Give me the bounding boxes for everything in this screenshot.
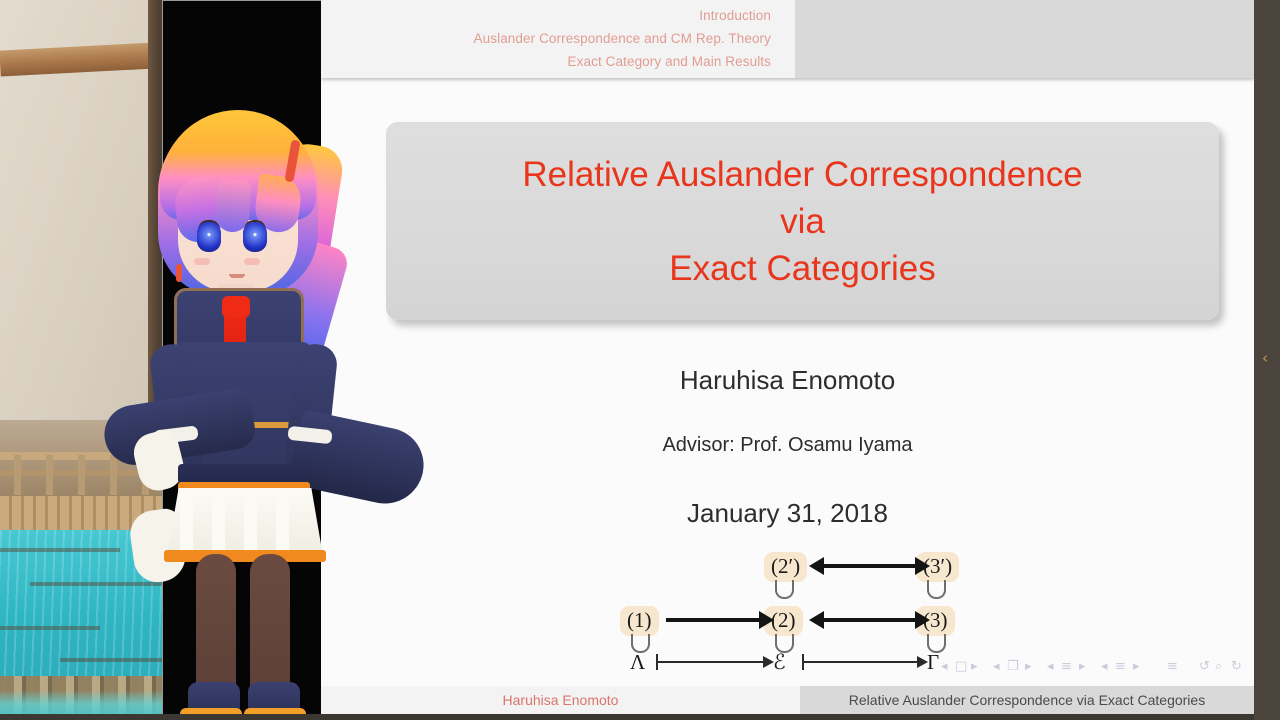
avatar-earring [176, 264, 182, 282]
nav-item-auslander-correspondence[interactable]: Auslander Correspondence and CM Rep. The… [321, 27, 771, 50]
diagram-edge-2p-3p [816, 564, 924, 568]
avatar-skirt-strap [212, 492, 225, 554]
screen: Introduction Auslander Correspondence an… [0, 0, 1280, 720]
background-rail-post [14, 455, 21, 495]
navsym-doc-icon[interactable]: ≡ [1167, 660, 1178, 674]
avatar-necktie-knot [222, 296, 250, 318]
nav-item-introduction[interactable]: Introduction [321, 4, 771, 27]
commutative-diagram: (2′) (3′) (1) (2) (3) Λ ℰ Γ [616, 548, 1016, 673]
footer-title: Relative Auslander Correspondence via Ex… [800, 686, 1254, 714]
background-rail-post [78, 455, 85, 495]
vtuber-avatar [118, 92, 418, 720]
navsym-slide-icon[interactable]: □ [955, 660, 967, 674]
nav-item-exact-category[interactable]: Exact Category and Main Results [321, 50, 771, 73]
background-rail-post [110, 455, 117, 495]
beamer-section-nav[interactable]: Introduction Auslander Correspondence an… [321, 4, 783, 73]
navsym-slide-prev-icon[interactable]: ◂ [941, 660, 948, 674]
advisor-line: Advisor: Prof. Osamu Iyama [321, 434, 1254, 457]
diagram-label-script-e: ℰ [773, 652, 786, 673]
avatar-skirt-strap [244, 492, 257, 554]
beamer-header-bar: Introduction Auslander Correspondence an… [321, 0, 1254, 78]
avatar-skirt-hem [164, 550, 326, 562]
diagram-arrowhead-right [917, 656, 928, 668]
title-line-3: Exact Categories [669, 245, 936, 292]
navsym-frame-icon[interactable]: ❐ [1007, 660, 1019, 674]
avatar-eye-left [197, 222, 221, 252]
title-line-1: Relative Auslander Correspondence [522, 151, 1082, 198]
title-line-2: via [780, 198, 825, 245]
avatar-cheek-right [244, 258, 260, 265]
bottom-edge-strip [0, 714, 1254, 720]
navsym-section-next-icon[interactable]: ▸ [1133, 660, 1140, 674]
avatar-skirt-strap [180, 492, 193, 554]
navsym-slide-next-icon[interactable]: ▸ [971, 660, 978, 674]
water-streak [0, 548, 120, 552]
slide-title-box: Relative Auslander Correspondence via Ex… [386, 122, 1219, 320]
diagram-arrowhead-right [763, 656, 774, 668]
avatar-skirt-strap [276, 492, 289, 554]
diagram-arrowhead-right [759, 611, 774, 629]
beamer-footer-bar: Haruhisa Enomoto Relative Auslander Corr… [321, 686, 1254, 714]
avatar-belt [178, 464, 310, 484]
diagram-node-2-prime: (2′) [764, 552, 807, 582]
diagram-inclusion-3p-3 [927, 584, 946, 599]
diagram-label-lambda: Λ [630, 652, 645, 673]
navsym-frame-next-icon[interactable]: ▸ [1025, 660, 1032, 674]
navsym-subsec-icon[interactable]: ≡ [1061, 660, 1072, 674]
navsym-subsec-prev-icon[interactable]: ◂ [1047, 660, 1054, 674]
avatar-eye-right [243, 222, 267, 252]
navsym-search-icon[interactable]: ⌕ [1215, 660, 1222, 674]
navsym-subsec-next-icon[interactable]: ▸ [1079, 660, 1086, 674]
diagram-node-1: (1) [620, 606, 659, 636]
diagram-arrowhead-right [915, 611, 930, 629]
diagram-label-gamma: Γ [927, 652, 939, 673]
diagram-arrowhead-left [809, 557, 824, 575]
navsym-section-icon[interactable]: ≡ [1115, 660, 1126, 674]
background-rail-post [46, 455, 53, 495]
diagram-arrowhead-right [915, 557, 930, 575]
navsym-frame-prev-icon[interactable]: ◂ [993, 660, 1000, 674]
presentation-slide[interactable]: Introduction Auslander Correspondence an… [321, 0, 1254, 714]
water-streak [0, 626, 100, 630]
navsym-back-icon[interactable]: ↺ [1199, 660, 1210, 674]
beamer-navigation-symbols[interactable]: ◂ □ ▸ ◂ ❐ ▸ ◂ ≡ ▸ ◂ ≡ ▸ ≡ ↺ ⌕ ↻ [941, 660, 1241, 682]
diagram-arrowhead-left [809, 611, 824, 629]
collapse-panel-chevron-left-icon[interactable]: ‹ [1262, 351, 1271, 365]
diagram-edge-2-3 [816, 618, 924, 622]
avatar-cheek-left [194, 258, 210, 265]
diagram-edge-e-gamma [802, 661, 920, 663]
diagram-inclusion-2p-2 [775, 584, 794, 599]
navsym-section-prev-icon[interactable]: ◂ [1101, 660, 1108, 674]
diagram-edge-1-2 [666, 618, 764, 622]
diagram-edge-lambda-e [656, 661, 766, 663]
author-name: Haruhisa Enomoto [321, 365, 1254, 396]
presentation-date: January 31, 2018 [321, 498, 1254, 529]
avatar-mouth [229, 274, 245, 278]
navsym-forward-icon[interactable]: ↻ [1231, 660, 1242, 674]
